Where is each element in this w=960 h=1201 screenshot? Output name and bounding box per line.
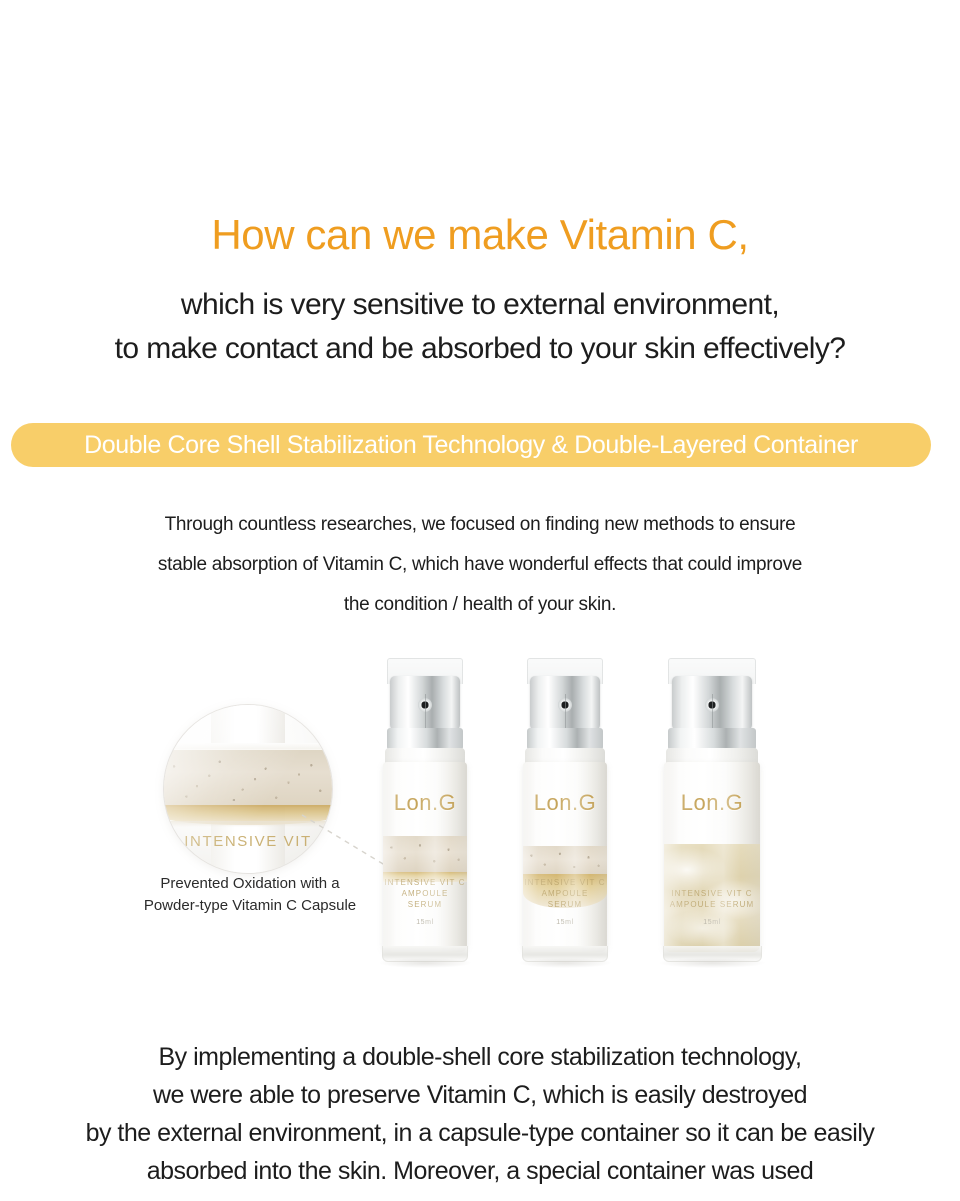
magnifier-caption-line-1: Prevented Oxidation with a — [90, 873, 410, 895]
bottle-1-sublabel-line-1: INTENSIVE VIT C — [383, 877, 467, 888]
bottle-2-sublabel: INTENSIVE VIT C AMPOULE SERUM — [523, 877, 607, 910]
product-bottle-1: Lon.G INTENSIVE VIT C AMPOULE SERUM 15ml — [377, 658, 473, 968]
bottle-1-collar — [387, 728, 464, 750]
magnifier-caption: Prevented Oxidation with a Powder-type V… — [90, 873, 410, 917]
bottle-1-brand: Lon.G — [383, 790, 467, 816]
intro-paragraph: Through countless researches, we focused… — [0, 505, 960, 625]
intro-line-3: the condition / health of your skin. — [0, 585, 960, 625]
intro-line-1: Through countless researches, we focused… — [0, 505, 960, 545]
bottle-3-sublabel: INTENSIVE VIT C AMPOULE SERUM — [664, 888, 761, 910]
magnifier-circle: INTENSIVE VIT — [164, 705, 332, 873]
bottle-1-shadow — [379, 958, 471, 968]
bottle-3-volume: 15ml — [664, 919, 761, 926]
bottle-3-sublabel-line-2: AMPOULE SERUM — [664, 899, 761, 910]
product-detail-page: How can we make Vitamin C, which is very… — [0, 0, 960, 1201]
bottle-1-sublabel-line-2: AMPOULE SERUM — [383, 888, 467, 910]
bottle-2-collar — [527, 728, 604, 750]
magnifier-powder-band — [164, 749, 332, 807]
outro-line-4: absorbed into the skin. Moreover, a spec… — [0, 1152, 960, 1190]
bottle-1-sublabel: INTENSIVE VIT C AMPOULE SERUM — [383, 877, 467, 910]
bottle-2-brand: Lon.G — [523, 790, 607, 816]
bottle-3-shadow — [659, 958, 765, 968]
product-bottle-3: Lon.G INTENSIVE VIT C AMPOULE SERUM 15ml — [657, 658, 767, 968]
bottle-1-pump-seam — [425, 694, 426, 730]
bottle-3-pump-seam — [712, 694, 713, 730]
subheading-line-2: to make contact and be absorbed to your … — [0, 327, 960, 371]
bottle-2-powder-layer — [523, 846, 607, 876]
outro-line-1: By implementing a double-shell core stab… — [0, 1038, 960, 1076]
bottle-2-sublabel-line-1: INTENSIVE VIT C — [523, 877, 607, 888]
outro-line-2: we were able to preserve Vitamin C, whic… — [0, 1076, 960, 1114]
page-headline: How can we make Vitamin C, — [0, 210, 960, 260]
product-illustration: INTENSIVE VIT Prevented Oxidation with a… — [0, 648, 960, 1008]
subheading-line-1: which is very sensitive to external envi… — [0, 283, 960, 327]
bottle-1-powder-layer — [383, 836, 467, 872]
magnifier-inner-label: INTENSIVE VIT — [164, 833, 332, 850]
magnifier-caption-line-2: Powder-type Vitamin C Capsule — [90, 895, 410, 917]
intro-line-2: stable absorption of Vitamin C, which ha… — [0, 545, 960, 585]
outro-paragraph: By implementing a double-shell core stab… — [0, 1038, 960, 1190]
bottle-1-body: Lon.G INTENSIVE VIT C AMPOULE SERUM 15ml — [383, 762, 467, 952]
bottle-2-sublabel-line-2: AMPOULE SERUM — [523, 888, 607, 910]
outro-line-3: by the external environment, in a capsul… — [0, 1114, 960, 1152]
bottle-2-volume: 15ml — [523, 919, 607, 926]
bottle-2-body: Lon.G INTENSIVE VIT C AMPOULE SERUM 15ml — [523, 762, 607, 952]
bottle-3-brand: Lon.G — [664, 790, 761, 816]
bottle-2-pump-seam — [565, 694, 566, 730]
technology-banner-label: Double Core Shell Stabilization Technolo… — [84, 431, 858, 460]
bottle-2-shadow — [519, 958, 611, 968]
product-bottle-2: Lon.G INTENSIVE VIT C AMPOULE SERUM 15ml — [517, 658, 613, 968]
bottle-3-body: Lon.G INTENSIVE VIT C AMPOULE SERUM 15ml — [664, 762, 761, 952]
bottle-3-sublabel-line-1: INTENSIVE VIT C — [664, 888, 761, 899]
technology-banner: Double Core Shell Stabilization Technolo… — [11, 423, 931, 467]
magnifier-liquid-edge — [164, 821, 332, 827]
page-subheading: which is very sensitive to external envi… — [0, 283, 960, 371]
bottle-1-volume: 15ml — [383, 919, 467, 926]
bottle-3-collar — [668, 728, 756, 750]
